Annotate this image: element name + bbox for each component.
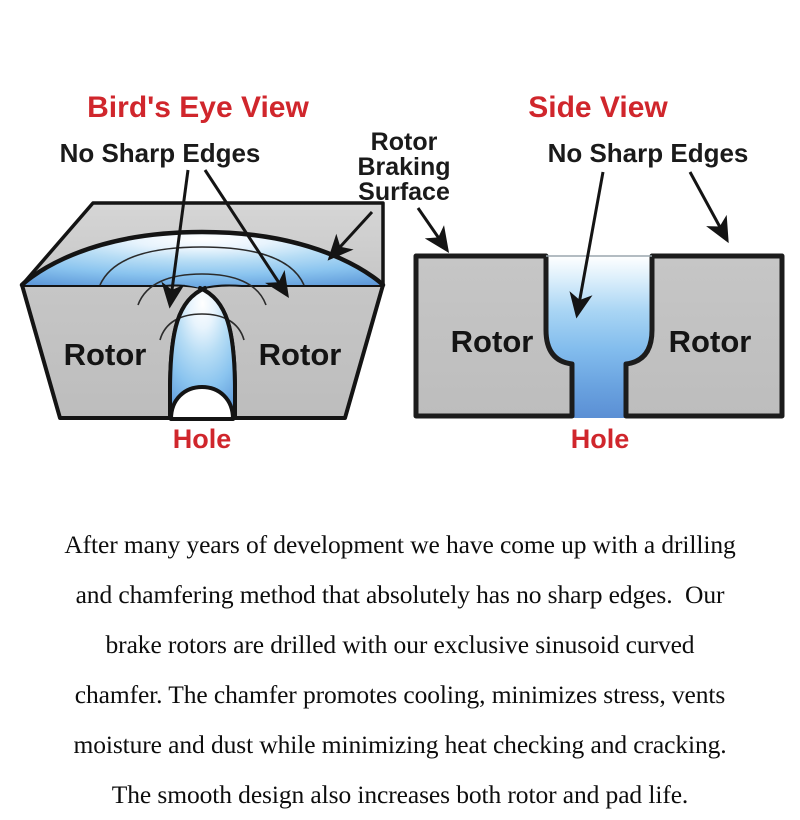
- left-panel-hole-label: Hole: [173, 424, 232, 454]
- diagram-canvas: Bird's Eye View No Sharp Edges Rotor Bra…: [0, 0, 800, 480]
- description-line-5: moisture and dust while minimizing heat …: [0, 720, 800, 770]
- right-no-sharp-edges-label: No Sharp Edges: [548, 138, 749, 168]
- rotor-braking-surface-line2: Braking: [357, 153, 450, 181]
- side-view-rotor-label-right: Rotor: [669, 324, 752, 359]
- side-view-hole-label: Hole: [571, 424, 630, 454]
- side-view-rotor-label-left: Rotor: [451, 324, 534, 359]
- left-no-sharp-edges-label: No Sharp Edges: [60, 138, 261, 168]
- birds-eye-view-panel: Bird's Eye View No Sharp Edges Rotor Bra…: [22, 91, 451, 454]
- arrow-no-sharp-edges-right-outer: [690, 172, 727, 240]
- birds-eye-view-title: Bird's Eye View: [87, 91, 309, 124]
- description-line-6: The smooth design also increases both ro…: [0, 770, 800, 820]
- arrow-rotor-braking-surface-right: [418, 208, 447, 250]
- rotor-chamfer-infographic: Bird's Eye View No Sharp Edges Rotor Bra…: [0, 0, 800, 800]
- description-paragraph: After many years of development we have …: [0, 520, 800, 820]
- side-view-title: Side View: [528, 91, 668, 124]
- left-panel-rotor-label-right: Rotor: [259, 337, 342, 372]
- side-view-panel: Side View No Sharp Edges Rotor Rotor Hol…: [416, 91, 782, 454]
- description-line-1: After many years of development we have …: [0, 520, 800, 570]
- description-line-2: and chamfering method that absolutely ha…: [0, 570, 800, 620]
- description-line-3: brake rotors are drilled with our exclus…: [0, 620, 800, 670]
- rotor-braking-surface-label: Rotor Braking Surface: [357, 128, 450, 206]
- left-panel-rotor-label-left: Rotor: [64, 337, 147, 372]
- description-line-4: chamfer. The chamfer promotes cooling, m…: [0, 670, 800, 720]
- rotor-braking-surface-line1: Rotor: [371, 128, 438, 156]
